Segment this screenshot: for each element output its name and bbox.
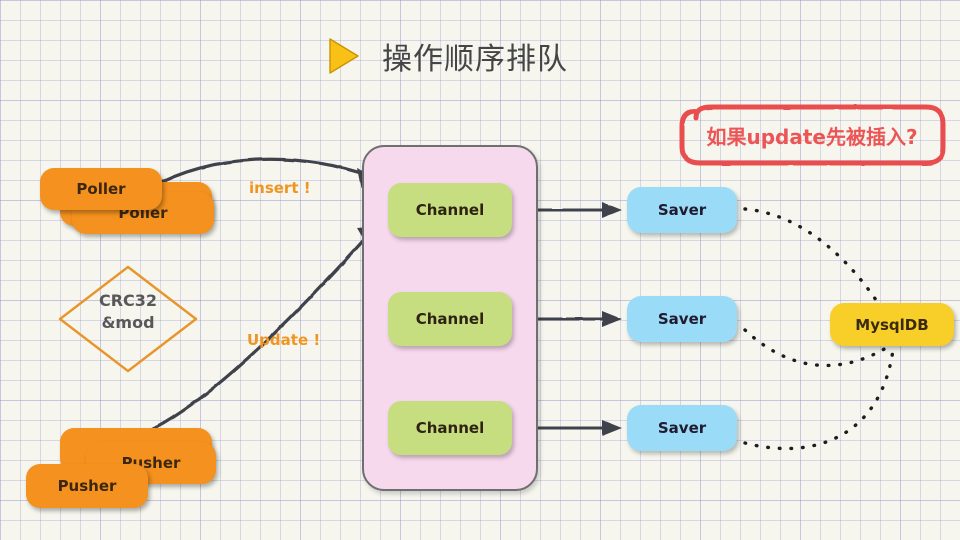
page-title-text: 操作顺序排队 [382, 34, 568, 78]
update-edge-label: Update ! [247, 331, 320, 349]
pusher-label-1: Pusher [58, 477, 117, 495]
mysqldb-box[interactable]: MysqlDB [830, 303, 954, 346]
channel-to-saver-arrow-3 [527, 420, 622, 436]
crc32-line-2: &mod [57, 312, 199, 334]
saver-label-1: Saver [658, 201, 706, 219]
channel-box-3[interactable]: Channel [388, 401, 512, 455]
poller-label-1: Poller [76, 180, 125, 198]
saver-box-2[interactable]: Saver [627, 296, 737, 342]
play-triangle-icon [326, 36, 360, 76]
channel-box-2[interactable]: Channel [388, 292, 512, 346]
channel-to-saver-arrow-1 [527, 202, 622, 218]
page-title: 操作顺序排队 [326, 34, 568, 78]
channel-box-1[interactable]: Channel [388, 183, 512, 237]
poller-box-front[interactable]: Poller [40, 168, 162, 210]
crc32-line-1: CRC32 [57, 290, 199, 312]
channel-label-2: Channel [416, 310, 484, 328]
insert-edge-label: insert ! [249, 179, 311, 197]
saver-label-3: Saver [658, 419, 706, 437]
channel-to-saver-arrow-2 [527, 311, 622, 327]
mysqldb-label: MysqlDB [855, 316, 928, 334]
channel-label-1: Channel [416, 201, 484, 219]
diagram-canvas: 操作顺序排队 [0, 0, 960, 540]
saver-label-2: Saver [658, 310, 706, 328]
saver-box-1[interactable]: Saver [627, 187, 737, 233]
pusher-box-front[interactable]: Pusher [26, 464, 148, 508]
saver-box-3[interactable]: Saver [627, 405, 737, 451]
crc32-node-label: CRC32 &mod [57, 290, 199, 334]
channel-label-3: Channel [416, 419, 484, 437]
callout-text: 如果update先被插入? [678, 104, 946, 166]
